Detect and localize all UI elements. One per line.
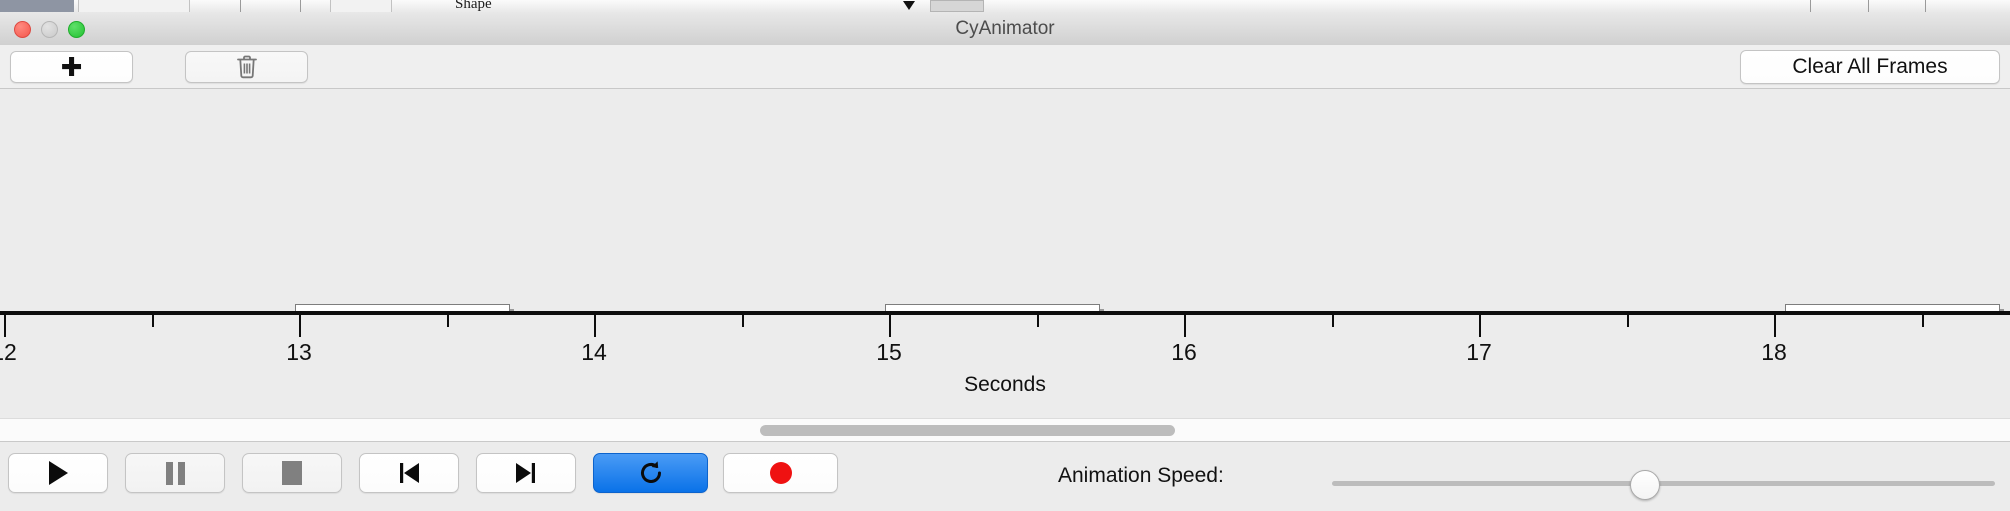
ruler-tick-minor	[1922, 315, 1924, 327]
pause-icon	[166, 462, 185, 485]
background-box	[930, 0, 984, 12]
loop-icon	[637, 459, 665, 487]
network-thumbnail: MCM1	[1785, 304, 2000, 311]
background-segment	[78, 0, 190, 12]
trash-icon	[236, 54, 258, 80]
ruler-tick-minor	[152, 315, 154, 327]
ruler-tick-major	[299, 315, 301, 337]
record-icon	[767, 459, 795, 487]
play-button[interactable]	[8, 453, 108, 493]
ruler-axis-title: Seconds	[0, 373, 2010, 397]
ruler-tick-major	[594, 315, 596, 337]
animation-speed-slider-track[interactable]	[1332, 481, 1995, 486]
stop-icon	[282, 461, 302, 485]
delete-frame-button[interactable]	[185, 51, 308, 83]
ruler-tick-minor	[1332, 315, 1334, 327]
timeline-frame-3[interactable]: MCM1	[1785, 304, 2000, 311]
ruler-axis-line	[0, 311, 2010, 315]
background-tick	[300, 0, 301, 12]
background-tick	[240, 0, 241, 12]
loop-button[interactable]	[593, 453, 708, 493]
skip-back-icon	[396, 461, 422, 485]
cyanimator-window: Shape CyAnimator ✚ Clear All Fram	[0, 0, 2010, 510]
ruler-tick-minor	[742, 315, 744, 327]
toolbar: ✚ Clear All Frames	[0, 45, 2010, 89]
ruler-tick-minor	[447, 315, 449, 327]
background-window-strip: Shape	[0, 0, 2010, 12]
ruler-tick-major	[1774, 315, 1776, 337]
timeline-canvas[interactable]: MCM1	[0, 89, 2010, 311]
plus-icon: ✚	[61, 54, 83, 80]
ruler-label: 13	[286, 339, 312, 366]
animation-speed-label: Animation Speed:	[1058, 464, 1224, 488]
background-tick	[1925, 0, 1926, 12]
ruler-label: 18	[1761, 339, 1787, 366]
background-window-label: Shape	[455, 0, 492, 12]
ruler-tick-minor	[1627, 315, 1629, 327]
play-icon	[49, 461, 68, 485]
record-button[interactable]	[723, 453, 838, 493]
title-bar: CyAnimator	[0, 12, 2010, 46]
timeline-ruler[interactable]: 12 13 14 15 16 17 18 Seconds	[0, 311, 2010, 417]
background-segment	[330, 0, 392, 12]
timeline-frame-1[interactable]: MCM1	[295, 304, 510, 311]
ruler-tick-major	[889, 315, 891, 337]
timeline-frame-2[interactable]: MCM1	[885, 304, 1100, 311]
next-button[interactable]	[476, 453, 576, 493]
clear-all-frames-button[interactable]: Clear All Frames	[1740, 50, 2000, 84]
ruler-label: 12	[0, 339, 17, 366]
ruler-label: 17	[1466, 339, 1492, 366]
skip-forward-icon	[513, 461, 539, 485]
ruler-tick-major	[4, 315, 6, 337]
background-tab-well	[0, 0, 74, 12]
ruler-tick-major	[1479, 315, 1481, 337]
network-thumbnail: MCM1	[885, 304, 1100, 311]
background-tick	[1810, 0, 1811, 12]
animation-speed-slider-knob[interactable]	[1630, 470, 1660, 500]
ruler-label: 16	[1171, 339, 1197, 366]
pause-button[interactable]	[125, 453, 225, 493]
ruler-tick-major	[1184, 315, 1186, 337]
scrollbar-thumb[interactable]	[760, 425, 1175, 436]
clear-all-frames-label: Clear All Frames	[1792, 55, 1947, 79]
timeline-scrollbar[interactable]	[0, 418, 2010, 442]
background-caret-icon	[903, 1, 915, 10]
add-frame-button[interactable]: ✚	[10, 51, 133, 83]
stop-button[interactable]	[242, 453, 342, 493]
network-thumbnail: MCM1	[295, 304, 510, 311]
ruler-label: 15	[876, 339, 902, 366]
ruler-label: 14	[581, 339, 607, 366]
playback-control-bar: Animation Speed:	[0, 441, 2010, 511]
window-title: CyAnimator	[0, 12, 2010, 45]
ruler-tick-minor	[1037, 315, 1039, 327]
previous-button[interactable]	[359, 453, 459, 493]
background-tick	[1868, 0, 1869, 12]
